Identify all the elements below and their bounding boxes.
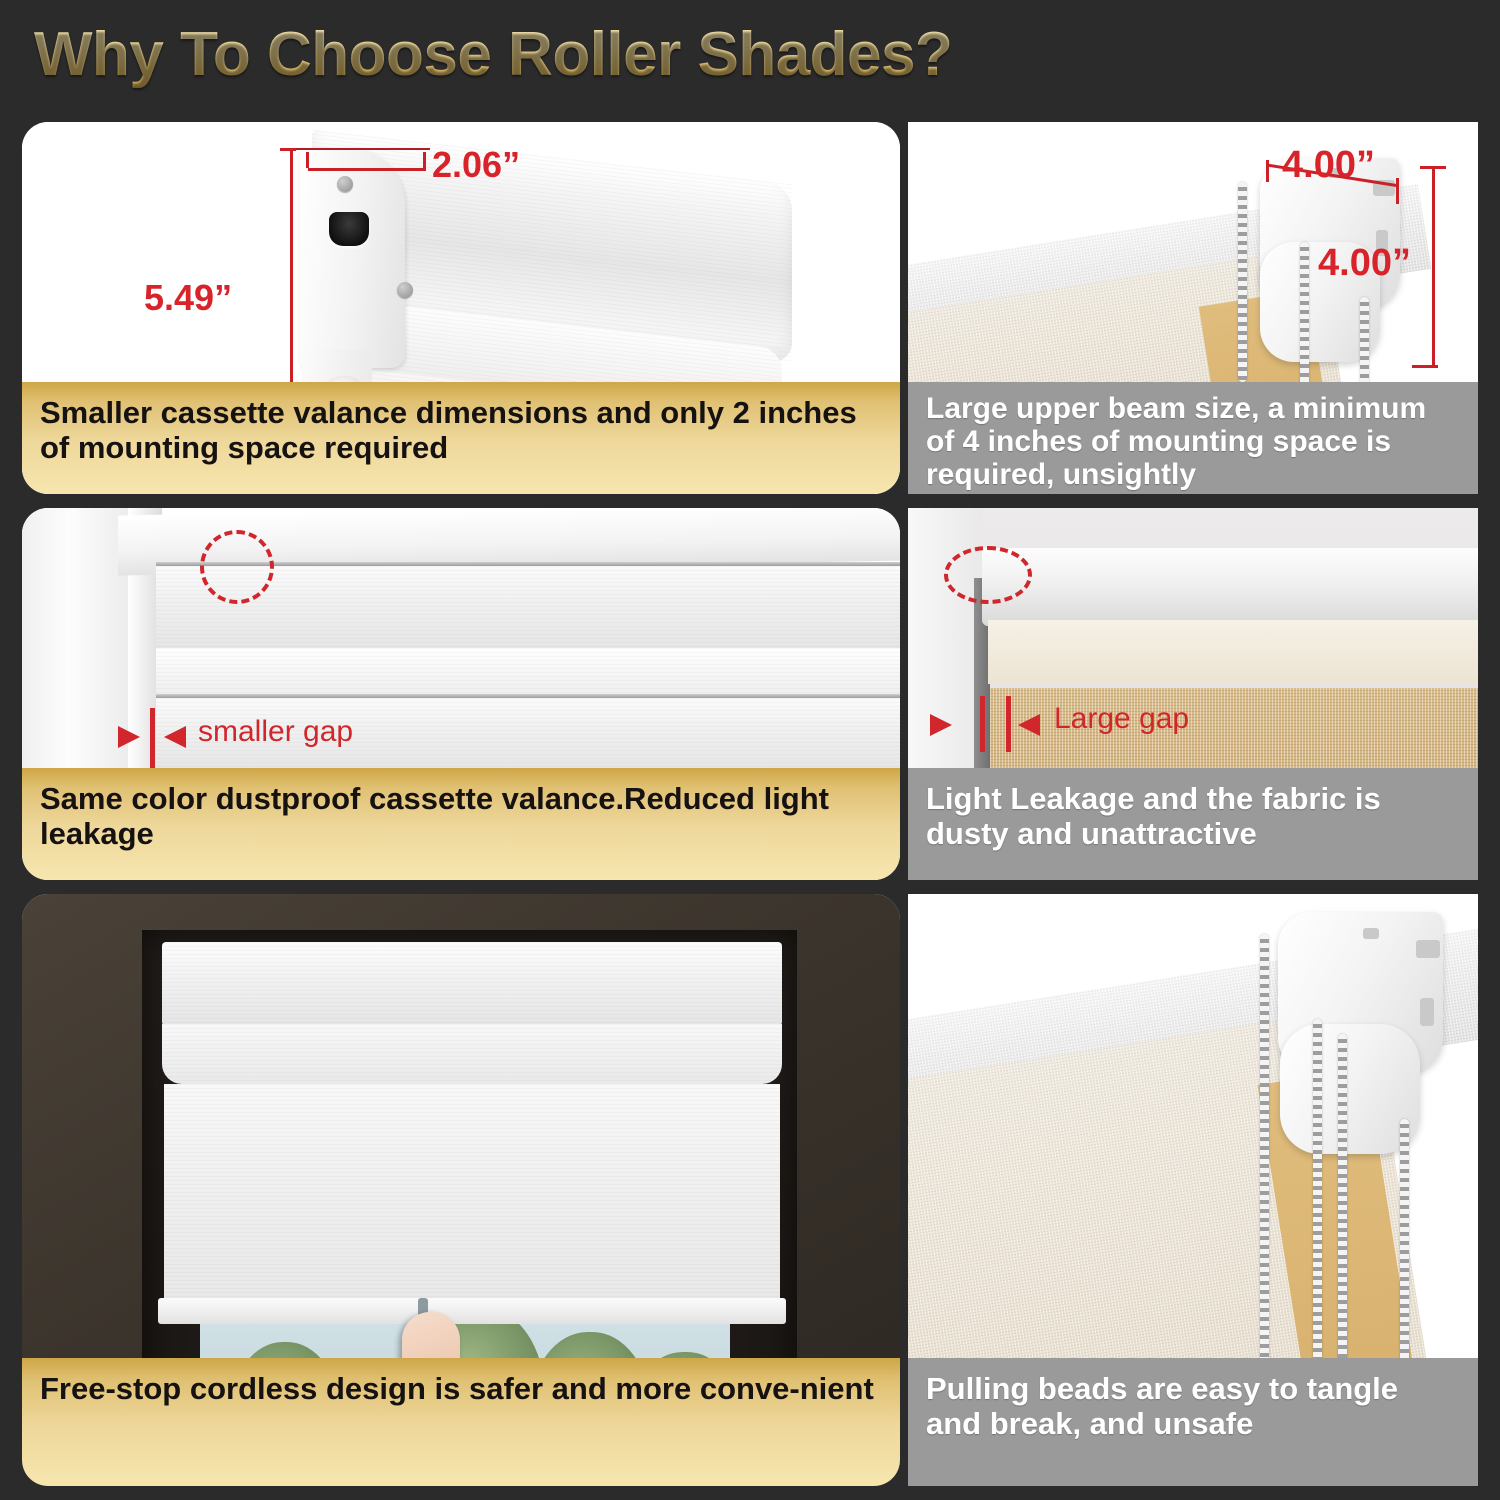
- shade-fabric-panel: [164, 1084, 780, 1304]
- page-title: Why To Choose Roller Shades?: [34, 19, 952, 90]
- caption-pulling-beads: Pulling beads are easy to tangle and bre…: [908, 1358, 1478, 1486]
- beam-width-label: 4.00”: [1282, 144, 1375, 187]
- bead-chain-right: [1300, 242, 1309, 387]
- shade-band-2: [156, 648, 900, 696]
- width-dimension-tick-left: [306, 152, 309, 168]
- gap-highlight-circle: [944, 546, 1032, 604]
- panel-cordless-design: Free-stop cordless design is safer and m…: [22, 894, 900, 1486]
- shade-valance-front: [162, 1024, 782, 1084]
- height-dimension-label: 5.49”: [144, 277, 232, 319]
- beam-height-tick-top: [1420, 166, 1446, 169]
- width-extension-line: [290, 148, 430, 150]
- panel-large-upper-beam: 4.00” 4.00” Large upper beam size, a min…: [908, 122, 1478, 494]
- bead-chain-mid: [1313, 1019, 1322, 1374]
- cassette-screw-mid: [397, 282, 413, 298]
- gap-arrow-left: [164, 726, 186, 748]
- gap-arrow-left: [1018, 714, 1040, 736]
- bracket-lower-lobe: [1280, 1024, 1420, 1154]
- width-dimension-label: 2.06”: [432, 144, 520, 186]
- cassette-clutch-slot: [329, 212, 369, 246]
- bead-chain-right: [1400, 1119, 1409, 1374]
- gap-marker-bar-2: [1006, 696, 1011, 752]
- page-header: Why To Choose Roller Shades?: [0, 0, 1500, 108]
- gap-arrow-right: [930, 714, 952, 736]
- panel-smaller-cassette: 2.06” 5.49” Smaller cassette valance dim…: [22, 122, 900, 494]
- gap-arrow-right: [118, 726, 140, 748]
- caption-dustproof-cassette: Same color dustproof cassette valance.Re…: [22, 768, 900, 880]
- caption-light-leakage: Light Leakage and the fabric is dusty an…: [908, 768, 1478, 880]
- gap-marker-bar: [150, 708, 155, 770]
- shade-cassette-head: [162, 942, 782, 1026]
- caption-large-upper-beam: Large upper beam size, a minimum of 4 in…: [908, 382, 1478, 494]
- bracket-notch-top: [1416, 940, 1440, 958]
- bracket-notch-mid: [1420, 998, 1434, 1026]
- width-dimension-tick-right: [423, 152, 426, 168]
- bead-chain-left: [1260, 934, 1269, 1374]
- panel-pulling-beads: Pulling beads are easy to tangle and bre…: [908, 894, 1478, 1486]
- panel-light-leakage: Large gap Light Leakage and the fabric i…: [908, 508, 1478, 880]
- gap-marker-bar-1: [980, 696, 985, 752]
- beam-width-tick-right: [1396, 178, 1399, 204]
- cassette-screw-top: [337, 176, 353, 192]
- gap-label-large: Large gap: [1054, 702, 1189, 736]
- gap-highlight-circle: [200, 530, 274, 604]
- panel-dustproof-cassette: smaller gap Same color dustproof cassett…: [22, 508, 900, 880]
- beam-width-tick-left: [1266, 160, 1269, 182]
- bead-chain-mid-2: [1338, 1034, 1347, 1374]
- caption-smaller-cassette: Smaller cassette valance dimensions and …: [22, 382, 900, 494]
- bracket-notch-small: [1363, 928, 1379, 939]
- comparison-grid: 2.06” 5.49” Smaller cassette valance dim…: [0, 108, 1500, 1500]
- width-dimension-line: [308, 168, 426, 171]
- beam-height-dimension-line: [1432, 168, 1435, 368]
- gap-label-smaller: smaller gap: [198, 715, 353, 749]
- shade-bottom-rail: [158, 1298, 786, 1324]
- bead-chain-left: [1238, 182, 1247, 382]
- beam-height-tick-bottom: [1412, 365, 1438, 368]
- valance-strip: [988, 620, 1478, 684]
- roller-tube: [982, 548, 1478, 626]
- caption-cordless-design: Free-stop cordless design is safer and m…: [22, 1358, 900, 1486]
- height-dimension-tick-top: [280, 148, 296, 151]
- beam-height-label: 4.00”: [1318, 242, 1411, 285]
- bead-chain-tail: [1360, 297, 1369, 387]
